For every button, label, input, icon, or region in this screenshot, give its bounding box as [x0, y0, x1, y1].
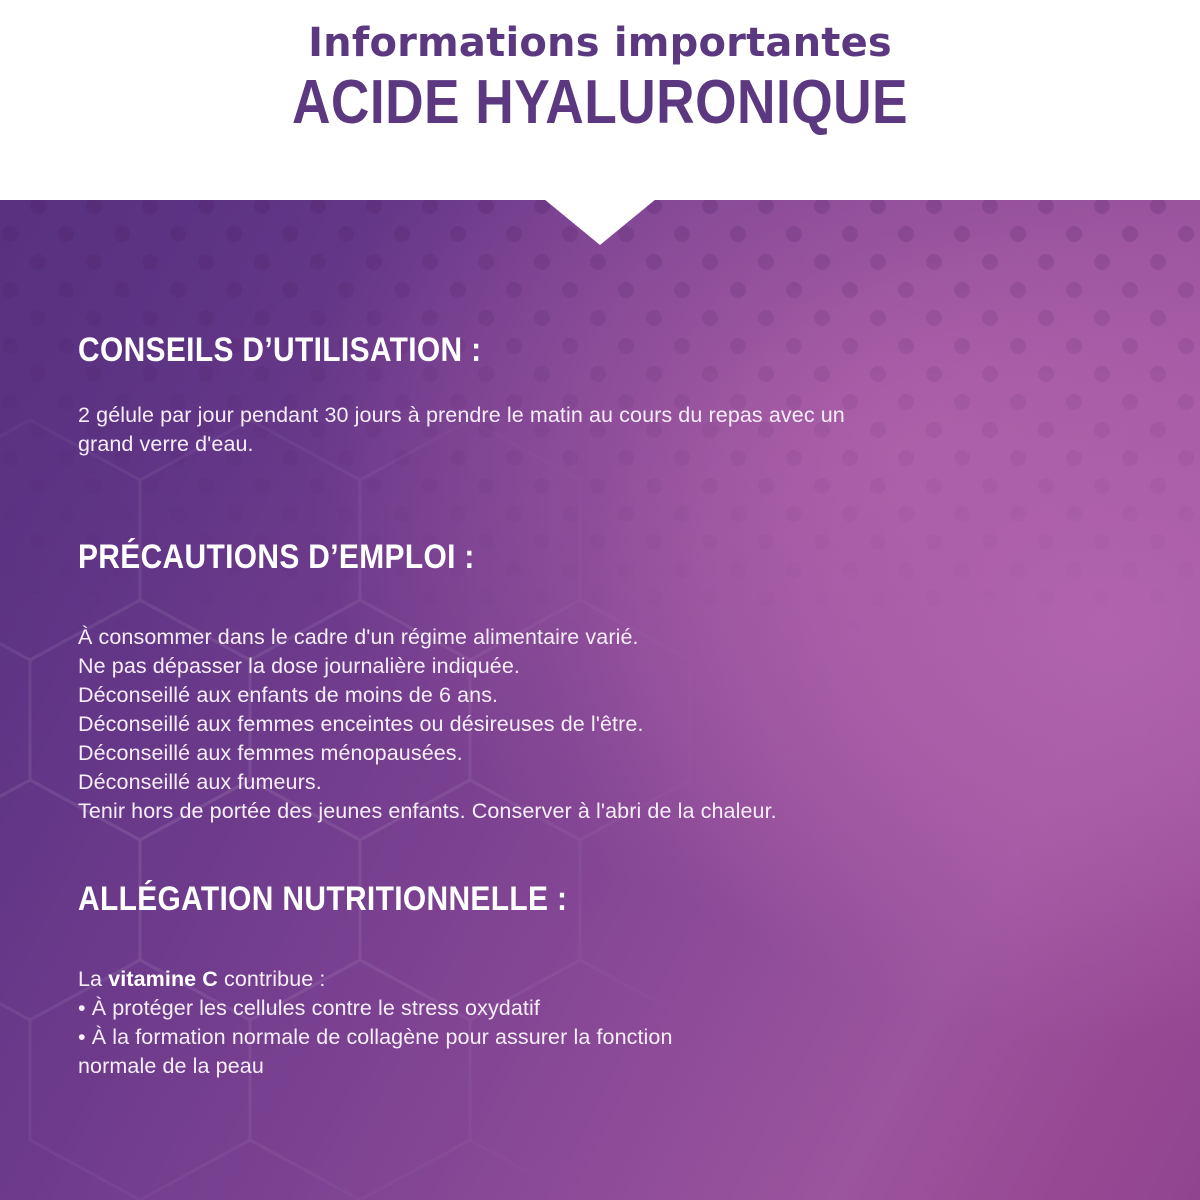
section-heading-precautions-emploi: PRÉCAUTIONS D’EMPLOI :: [78, 540, 993, 574]
claim-bullet: • À la formation normale de collagène po…: [78, 1023, 983, 1052]
body-line: Tenir hors de portée des jeunes enfants.…: [78, 797, 983, 826]
section-body-allegation-nutritionnelle: La vitamine C contribue : • À protéger l…: [78, 965, 983, 1081]
header-banner: Informations importantes ACIDE HYALURONI…: [0, 0, 1200, 200]
header-kicker: Informations importantes: [0, 22, 1200, 64]
section-body-precautions-emploi: À consommer dans le cadre d'un régime al…: [78, 623, 983, 826]
claim-intro-suffix: contribue :: [218, 967, 326, 991]
body-line: Déconseillé aux enfants de moins de 6 an…: [78, 681, 983, 710]
claim-intro-prefix: La: [78, 967, 108, 991]
claim-intro-bold: vitamine C: [108, 967, 218, 991]
body-line: Ne pas dépasser la dose journalière indi…: [78, 652, 983, 681]
header-text-group: Informations importantes ACIDE HYALURONI…: [0, 22, 1200, 134]
info-panel-page: Informations importantes ACIDE HYALURONI…: [0, 0, 1200, 1200]
main-content: CONSEILS D’UTILISATION : 2 gélule par jo…: [0, 200, 1200, 1200]
body-line: Déconseillé aux fumeurs.: [78, 768, 983, 797]
section-heading-conseils-utilisation: CONSEILS D’UTILISATION :: [78, 333, 993, 367]
body-line: Déconseillé aux femmes ménopausées.: [78, 739, 983, 768]
banner-notch-triangle: [544, 199, 656, 245]
body-line: 2 gélule par jour pendant 30 jours à pre…: [78, 401, 983, 430]
section-body-conseils-utilisation: 2 gélule par jour pendant 30 jours à pre…: [78, 401, 983, 459]
body-line: grand verre d'eau.: [78, 430, 983, 459]
section-precautions-emploi: PRÉCAUTIONS D’EMPLOI : À consommer dans …: [78, 540, 1118, 826]
section-heading-allegation-nutritionnelle: ALLÉGATION NUTRITIONNELLE :: [78, 882, 993, 916]
body-line: À consommer dans le cadre d'un régime al…: [78, 623, 983, 652]
page-title: ACIDE HYALURONIQUE: [84, 72, 1116, 134]
claim-bullet: • À protéger les cellules contre le stre…: [78, 994, 983, 1023]
section-allegation-nutritionnelle: ALLÉGATION NUTRITIONNELLE : La vitamine …: [78, 882, 1118, 1081]
claim-bullet-continuation: normale de la peau: [78, 1052, 983, 1081]
body-line: Déconseillé aux femmes enceintes ou dési…: [78, 710, 983, 739]
claim-intro: La vitamine C contribue :: [78, 965, 983, 994]
section-conseils-utilisation: CONSEILS D’UTILISATION : 2 gélule par jo…: [78, 333, 1118, 459]
